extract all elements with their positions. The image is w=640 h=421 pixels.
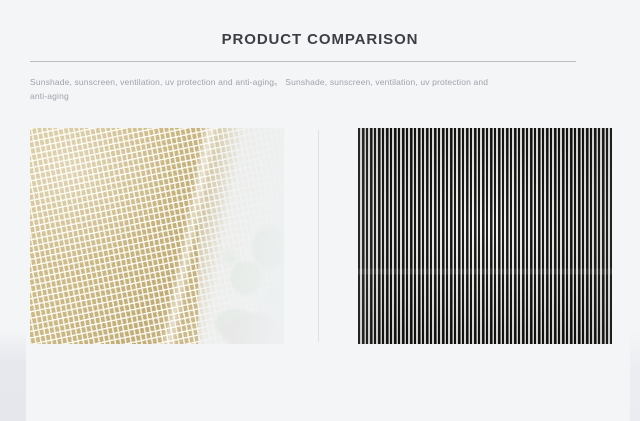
panel-divider [318, 130, 319, 342]
beige-shade-cloth-photo [30, 128, 284, 344]
black-shade-net-photo [358, 128, 612, 344]
comparison-panel-right [358, 128, 612, 344]
comparison-panel-left [30, 128, 284, 344]
product-description: Sunshade, sunscreen, ventilation, uv pro… [30, 75, 500, 103]
title-divider-rule [30, 61, 576, 62]
product-comparison-page: PRODUCT COMPARISON Sunshade, sunscreen, … [0, 0, 640, 421]
page-title: PRODUCT COMPARISON [0, 30, 640, 49]
comparison-section [0, 128, 640, 344]
